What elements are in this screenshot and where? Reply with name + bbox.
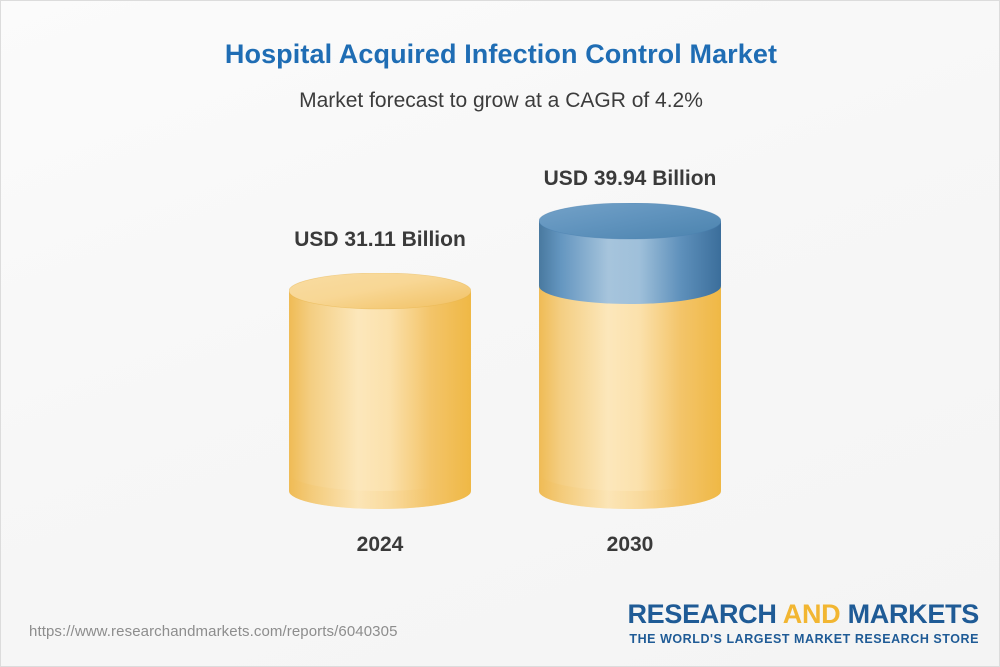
logo-word-and: AND: [783, 599, 841, 629]
cylinder-2024[interactable]: [289, 273, 471, 528]
category-label-2030: 2030: [479, 533, 781, 557]
data-label-2024: USD 31.11 Billion: [229, 228, 531, 252]
logo-word-markets: MARKETS: [848, 599, 979, 629]
cylinder-2030[interactable]: [539, 203, 721, 528]
logo-wordmark: RESEARCH AND MARKETS: [627, 601, 979, 628]
source-url[interactable]: https://www.researchandmarkets.com/repor…: [29, 623, 398, 640]
logo-tagline: THE WORLD'S LARGEST MARKET RESEARCH STOR…: [627, 633, 979, 646]
logo-word-research: RESEARCH: [627, 599, 776, 629]
chart-figure: Hospital Acquired Infection Control Mark…: [0, 0, 1000, 667]
brand-logo: RESEARCH AND MARKETS THE WORLD'S LARGEST…: [627, 601, 979, 646]
plot-area: USD 31.11 Billion: [1, 1, 1000, 601]
data-label-2030: USD 39.94 Billion: [479, 167, 781, 191]
